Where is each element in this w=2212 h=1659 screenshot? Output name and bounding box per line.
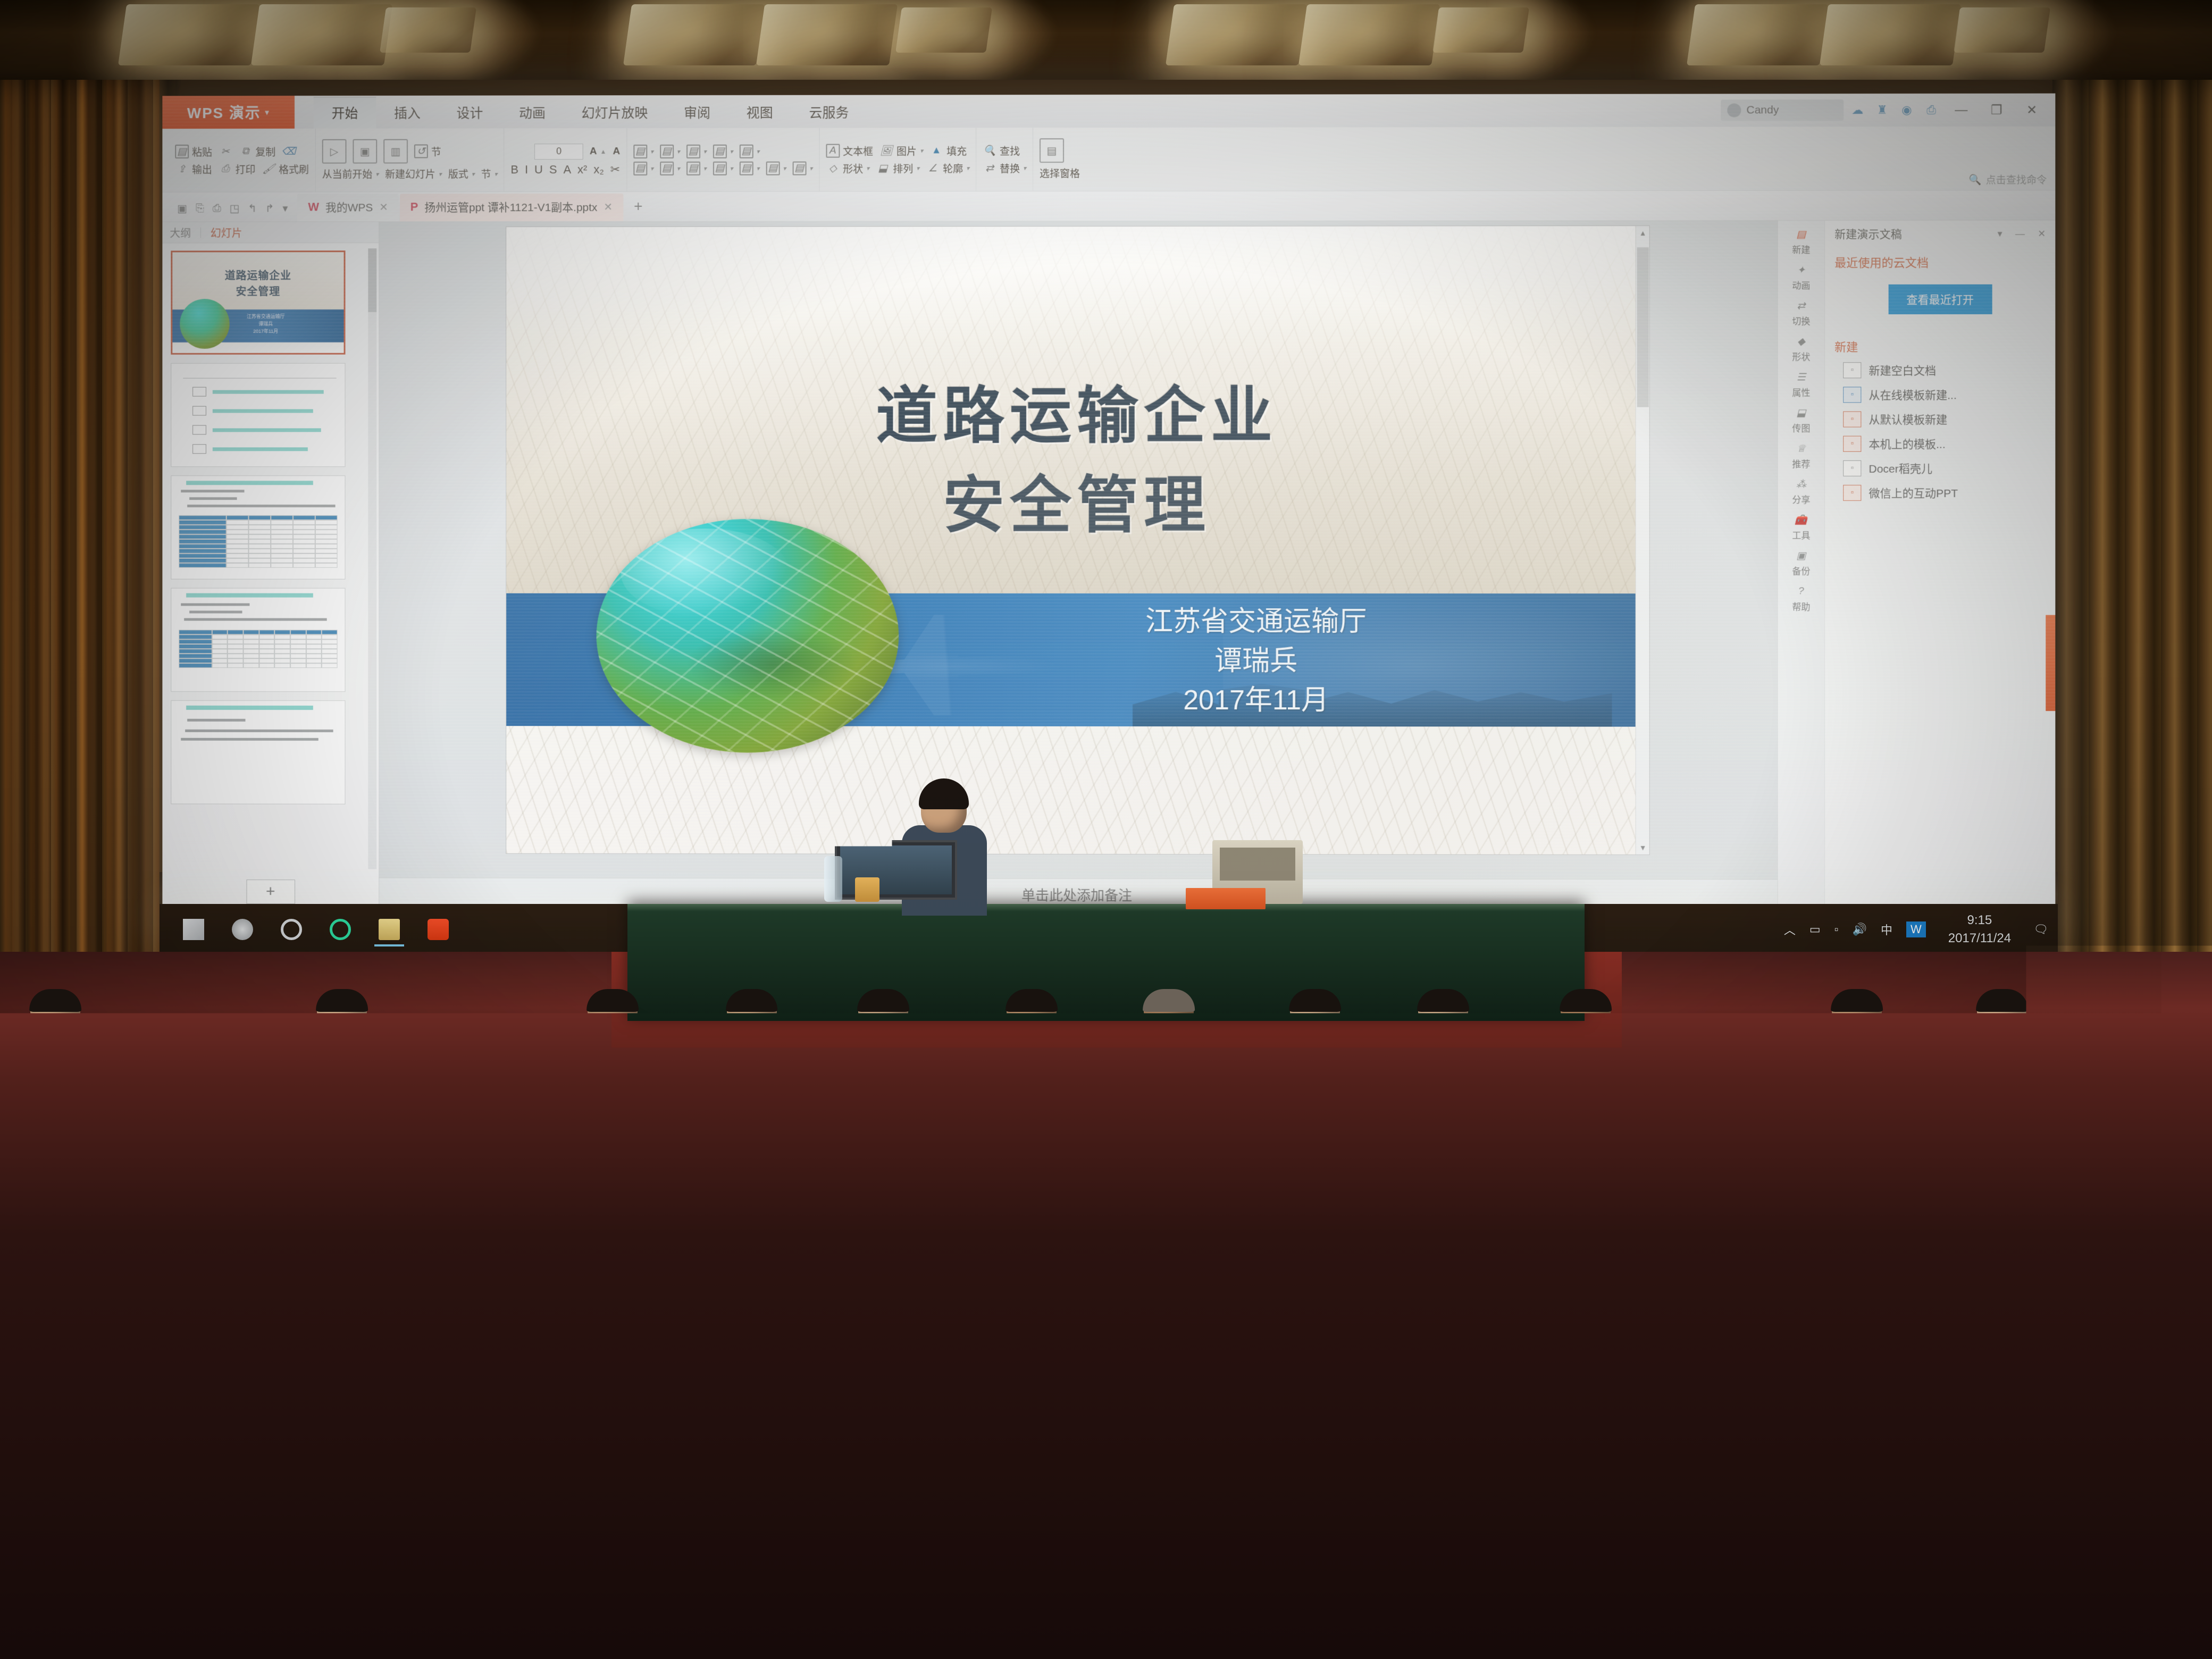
- minimize-button[interactable]: —: [1945, 94, 1977, 127]
- thumbnail-list[interactable]: 道路运输企业 安全管理 江苏省交通运输厅谭瑞兵2017年11月: [162, 243, 379, 874]
- task-pane-rail-分享[interactable]: ⁂分享: [1778, 474, 1824, 508]
- app-logo-badge[interactable]: WPS 演示 ▾: [162, 96, 295, 129]
- audience-person: [1871, 1256, 2032, 1381]
- thumb-table-row: [179, 549, 337, 554]
- audience-person: [2129, 1474, 2212, 1639]
- person-hair: [857, 989, 909, 1012]
- print-quick-icon[interactable]: ⎙: [213, 203, 221, 215]
- align-center-icon[interactable]: ▤▾: [660, 161, 680, 175]
- transition-icon: ⇄: [1793, 299, 1809, 313]
- person-hair: [1210, 1255, 1295, 1291]
- align-distribute-icon[interactable]: ▤▾: [740, 161, 760, 175]
- font-style-button-5[interactable]: x²: [577, 163, 587, 177]
- person-hair: [1975, 1099, 2040, 1127]
- blank-doc-icon: ▫: [1843, 362, 1861, 378]
- tools-icon: 🧰: [1793, 513, 1809, 527]
- person-hair: [1803, 1099, 1868, 1127]
- folder-icon[interactable]: [365, 910, 414, 949]
- recent-cloud-heading: 最近使用的云文档: [1825, 247, 2055, 270]
- close-tab-icon[interactable]: ✕: [379, 200, 388, 214]
- textbox-button[interactable]: A文本框: [826, 144, 873, 158]
- replace-label: 替换: [1000, 161, 1020, 175]
- undo-icon[interactable]: ↰: [248, 202, 257, 215]
- ribbon-tab-1[interactable]: 插入: [376, 98, 438, 129]
- slide-canvas-area: 道路运输企业 安全管理 江苏省交通运输厅 谭瑞兵 2017年11月: [379, 221, 1777, 911]
- task-pane-item-label: 从默认模板新建: [1869, 411, 1947, 427]
- chevron-down-icon[interactable]: ▾: [265, 108, 270, 117]
- print-button[interactable]: ⎙打印: [219, 162, 256, 176]
- new-slide-icon[interactable]: ▣: [353, 139, 377, 164]
- person-hair: [748, 1255, 833, 1291]
- cut-button[interactable]: ✂: [219, 145, 232, 158]
- thumb3-title: [186, 481, 313, 485]
- layout-button[interactable]: 版式▾: [448, 166, 475, 181]
- water-bottle: [824, 856, 842, 902]
- restore-button[interactable]: ❐: [1981, 94, 2013, 127]
- person-hair: [1289, 989, 1341, 1012]
- person-hair: [1006, 989, 1058, 1012]
- person-hair: [1123, 1038, 1183, 1063]
- current-slide[interactable]: 道路运输企业 安全管理 江苏省交通运输厅 谭瑞兵 2017年11月: [506, 226, 1649, 854]
- person-hair: [726, 989, 778, 1012]
- selection-pane-icon[interactable]: ▤: [1040, 138, 1064, 163]
- task-pane-item-0[interactable]: ▫新建空白文档: [1825, 358, 2055, 382]
- app-name: WPS 演示: [187, 102, 261, 123]
- person-hair: [2157, 1099, 2212, 1127]
- windows-explorer-icon[interactable]: [218, 910, 267, 949]
- globe-icon[interactable]: ◉: [1896, 99, 1917, 121]
- search-icon: 🔍: [1969, 173, 1982, 186]
- person-hair: [211, 1169, 288, 1200]
- line-spacing-icon[interactable]: ▤▾: [740, 144, 760, 158]
- person-hair: [1905, 1038, 1965, 1063]
- task-pane-item-3[interactable]: ▫本机上的模板...: [1825, 432, 2055, 456]
- thumb-table-row: [179, 630, 337, 634]
- browser-icon[interactable]: [267, 910, 316, 949]
- task-pane-rail: ▤新建✦动画⇄切换◆形状☰属性⬓传图♕推荐⁂分享🧰工具▣备份?帮助: [1778, 221, 1825, 911]
- ribbon-toolbar: ▤粘贴 ✂ ⧉复制 ⌫ ⇪输出 ⎙打印 🖌格式刷 ▷ ▣: [162, 127, 2055, 192]
- canvas-viewport: 道路运输企业 安全管理 江苏省交通运输厅 谭瑞兵 2017年11月: [379, 221, 1777, 879]
- person-hair: [0, 1038, 54, 1063]
- person-body: [634, 1537, 843, 1639]
- thumb1-author: 谭瑞兵: [247, 320, 285, 328]
- person-hair: [1100, 1099, 1165, 1127]
- outline-label: 轮廓: [943, 161, 963, 175]
- font-size-input[interactable]: 0: [534, 144, 583, 160]
- person-hair: [1550, 1354, 1647, 1395]
- ribbon-group-paragraph: ▤▾▤▾▤▾▤▾▤▾ ▤▾▤▾▤▾▤▾▤▾▤▾▤▾: [627, 128, 819, 191]
- selection-pane-button[interactable]: 选择窗格: [1040, 166, 1080, 180]
- picture-button[interactable]: 🖼图片▾: [879, 144, 923, 158]
- thumb-table-row: [179, 663, 337, 668]
- task-pane-rail-新建[interactable]: ▤新建: [1778, 224, 1824, 258]
- person-hair: [62, 1255, 147, 1291]
- font-style-button-0[interactable]: B: [510, 163, 518, 177]
- slide-org: 江苏省交通运输厅: [1145, 602, 1367, 641]
- person-hair: [53, 1099, 118, 1127]
- side-promo-tab[interactable]: [2046, 615, 2055, 711]
- person-body: [1871, 1303, 2032, 1381]
- ribbon-tab-3[interactable]: 动画: [501, 97, 564, 128]
- audience-person: [2089, 1256, 2212, 1381]
- outline-button[interactable]: ∠轮廓▾: [926, 161, 969, 175]
- audience-table: [12, 1472, 403, 1532]
- person-body: [1534, 1537, 1743, 1639]
- person-hair: [1449, 1255, 1534, 1291]
- rail-label: 帮助: [1792, 599, 1810, 613]
- person-hair: [1454, 1099, 1520, 1127]
- task-pane-rail-工具[interactable]: 🧰工具: [1778, 509, 1824, 544]
- align-justify-icon[interactable]: ▤▾: [713, 161, 733, 175]
- task-pane: ▤新建✦动画⇄切换◆形状☰属性⬓传图♕推荐⁂分享🧰工具▣备份?帮助 新建演示文稿…: [1778, 220, 2056, 911]
- search-placeholder: 点击查找命令: [1986, 172, 2047, 187]
- person-body: [772, 1073, 884, 1127]
- section-label: 节: [481, 166, 491, 181]
- default-template-icon: ▫: [1843, 412, 1861, 428]
- thumb4-title: [186, 593, 313, 598]
- thumbnail-slide-2[interactable]: [171, 363, 345, 467]
- redo-icon[interactable]: ↱: [265, 202, 274, 215]
- grow-font-button[interactable]: A▲: [590, 146, 607, 157]
- slide-thumbnail-panel: 大纲 幻灯片 道路运输企业 安全管理 江苏省交通运输厅谭瑞兵2017年11月: [162, 222, 379, 909]
- task-pane-minimize[interactable]: —: [2011, 228, 2029, 239]
- shapes-button[interactable]: ◇形状▾: [826, 161, 869, 175]
- person-hair: [799, 1038, 858, 1063]
- ribbon-group-clipboard: ▤粘贴 ✂ ⧉复制 ⌫ ⇪输出 ⎙打印 🖌格式刷: [169, 129, 316, 192]
- wps-presentation-icon[interactable]: [414, 910, 463, 949]
- person-hair: [1831, 989, 1883, 1012]
- ribbon-tab-6[interactable]: 视图: [728, 97, 791, 128]
- person-hair: [2081, 1169, 2159, 1200]
- thumb1-title-line1: 道路运输企业: [172, 267, 343, 282]
- task-pane-rail-传图[interactable]: ⬓传图: [1778, 403, 1824, 437]
- scroll-up-icon[interactable]: ▲: [1636, 226, 1649, 240]
- ribbon-tab-5[interactable]: 审阅: [666, 97, 728, 128]
- arrange-label: 排列: [893, 161, 913, 175]
- person-body: [2129, 1537, 2212, 1639]
- task-pane-item-5[interactable]: ▫微信上的互动PPT: [1825, 481, 2055, 505]
- person-hair: [1880, 1473, 1991, 1520]
- person-hair: [1976, 989, 2028, 1012]
- task-pane-close[interactable]: ✕: [2033, 228, 2050, 239]
- task-pane-rail-切换[interactable]: ⇄切换: [1778, 295, 1824, 330]
- rail-label: 分享: [1792, 492, 1810, 506]
- person-hair: [1628, 1099, 1694, 1127]
- projection-screen: WPS 演示 ▾ 开始插入设计动画幻灯片放映审阅视图云服务 Candy ☁ ♜ …: [162, 94, 2055, 936]
- task-pane-item-label: 从在线模板新建...: [1869, 387, 1956, 403]
- ribbon-tab-0[interactable]: 开始: [314, 97, 376, 129]
- font-style-button-7[interactable]: ✂: [610, 163, 620, 177]
- animation-icon: ✦: [1793, 263, 1809, 277]
- rail-label: 动画: [1792, 278, 1810, 291]
- task-pane-item-label: 微信上的互动PPT: [1869, 485, 1958, 501]
- document-tab-label: 我的WPS: [325, 199, 373, 215]
- title-bar: WPS 演示 ▾ 开始插入设计动画幻灯片放映审阅视图云服务 Candy ☁ ♜ …: [162, 94, 2055, 129]
- person-hair: [781, 1354, 878, 1395]
- properties-icon: ☰: [1793, 370, 1809, 384]
- thermos-flask: [690, 1432, 718, 1515]
- online-template-icon: ▫: [1843, 387, 1861, 403]
- shrink-font-button[interactable]: A: [613, 146, 620, 157]
- print-preview-icon[interactable]: ◳: [230, 202, 240, 215]
- thumb-table-row: [179, 649, 337, 653]
- print-label: 打印: [236, 162, 256, 176]
- ribbon-tab-7[interactable]: 云服务: [791, 97, 867, 128]
- thermos-flask: [165, 1153, 185, 1210]
- thermos-flask: [1011, 1229, 1033, 1292]
- slide-author: 谭瑞兵: [1145, 641, 1367, 681]
- tab-app-icon: W: [308, 200, 319, 214]
- task-pane-item-2[interactable]: ▫从默认模板新建: [1825, 407, 2055, 431]
- person-hair: [1280, 1099, 1346, 1127]
- person-hair: [1657, 1169, 1735, 1200]
- slide-title-line1[interactable]: 道路运输企业: [506, 366, 1649, 456]
- task-pane-item-1[interactable]: ▫从在线模板新建...: [1825, 382, 2055, 407]
- thermos-flask: [551, 1153, 571, 1210]
- command-search[interactable]: 🔍 点击查找命令: [1969, 172, 2047, 187]
- thumbnail-scrollbar[interactable]: [368, 248, 376, 869]
- new-tab-button[interactable]: +: [624, 194, 652, 221]
- document-tabs: W我的WPS✕P扬州运管ppt 谭补1121-V1副本.pptx✕: [297, 194, 624, 221]
- person-body: [1237, 1537, 1446, 1639]
- ime-icon[interactable]: 中: [1881, 921, 1892, 938]
- globe-interchange-image[interactable]: [597, 519, 899, 753]
- bullet-list-icon[interactable]: ▤▾: [633, 145, 653, 158]
- avatar: [1727, 103, 1741, 117]
- workspace: 大纲 幻灯片 道路运输企业 安全管理 江苏省交通运输厅谭瑞兵2017年11月: [162, 220, 2055, 911]
- ceiling-light: [1432, 7, 1529, 53]
- thumbnail-panel-tabs: 大纲 幻灯片: [162, 222, 379, 243]
- thumbnail-slide-5[interactable]: [171, 700, 345, 805]
- thumb-table-row: [179, 634, 337, 639]
- thumb-table-row: [179, 644, 337, 649]
- reset-button[interactable]: ↺节: [414, 144, 441, 158]
- task-pane-caret-icon[interactable]: ▾: [1993, 228, 2007, 239]
- align-right-icon[interactable]: ▤▾: [686, 161, 707, 175]
- orange-placard: [1186, 888, 1266, 909]
- person-hair: [504, 1354, 601, 1395]
- slide-date: 2017年11月: [1145, 681, 1367, 720]
- save-as-icon[interactable]: ⎘: [196, 203, 204, 215]
- person-hair: [311, 1038, 370, 1063]
- taskbar-clock[interactable]: 9:15 2017/11/24: [1940, 911, 2020, 948]
- section-label-top: 节: [431, 144, 441, 158]
- thermos-flask: [1187, 1323, 1212, 1396]
- thermos-flask: [690, 1323, 715, 1396]
- task-pane-rail-帮助[interactable]: ?帮助: [1778, 581, 1824, 615]
- recommend-icon: ♕: [1793, 442, 1809, 456]
- replace-button[interactable]: ⇄替换▾: [983, 161, 1026, 175]
- volume-icon[interactable]: 🔊: [1853, 923, 1867, 936]
- account-name: Candy: [1746, 104, 1779, 116]
- audience-person: [634, 1474, 843, 1639]
- task-pane-rail-属性[interactable]: ☰属性: [1778, 366, 1824, 401]
- tab-slides[interactable]: 幻灯片: [211, 225, 242, 240]
- ceiling-light: [380, 7, 476, 53]
- clock-date: 2017/11/24: [1948, 929, 2011, 948]
- font-style-button-1[interactable]: I: [525, 163, 528, 177]
- person-hair: [1043, 1169, 1121, 1200]
- person-hair: [2075, 1038, 2134, 1063]
- notes-placeholder: 单击此处添加备注: [379, 884, 1777, 905]
- presenter-laptop: [835, 840, 957, 915]
- person-hair: [1285, 1038, 1345, 1063]
- section-button[interactable]: 节▾: [481, 166, 498, 181]
- thumbnail-slide-3[interactable]: [171, 475, 345, 580]
- pin-window-icon[interactable]: ⎙: [1921, 99, 1942, 121]
- canvas-scrollbar[interactable]: ▲ ▼: [1636, 226, 1649, 854]
- wechat-ppt-icon: ▫: [1843, 485, 1861, 501]
- textbox-label: 文本框: [843, 144, 873, 158]
- audience-person: [772, 1040, 884, 1127]
- task-pane-rail-备份[interactable]: ▣备份: [1778, 545, 1824, 580]
- backup-icon: ▣: [1793, 549, 1809, 563]
- cloud-icon[interactable]: ☁: [1847, 99, 1868, 121]
- font-style-button-6[interactable]: x₂: [593, 163, 604, 177]
- task-pane-rail-推荐[interactable]: ♕推荐: [1778, 438, 1824, 473]
- task-pane-item-label: 本机上的模板...: [1869, 436, 1945, 452]
- align-left-icon[interactable]: ▤▾: [633, 161, 653, 175]
- person-body: [1831, 1537, 2040, 1639]
- outdent-icon[interactable]: ▤▾: [686, 144, 707, 158]
- share-icon: ⁂: [1793, 477, 1809, 491]
- font-style-button-4[interactable]: A: [563, 163, 571, 177]
- shirt-icon[interactable]: ♜: [1871, 99, 1892, 121]
- view-recent-button[interactable]: 查看最近打开: [1888, 284, 1992, 314]
- play-from-current-icon[interactable]: ▷: [322, 139, 347, 164]
- close-button[interactable]: ✕: [2016, 94, 2048, 127]
- task-pane-rail-形状[interactable]: ◆形状: [1778, 331, 1824, 365]
- layout-icon[interactable]: ▥: [383, 139, 408, 164]
- thumb2-row-2: [192, 406, 313, 416]
- task-pane-rail-动画[interactable]: ✦动画: [1778, 259, 1824, 294]
- audience-chair: [41, 1560, 274, 1659]
- ribbon-tab-2[interactable]: 设计: [439, 98, 501, 129]
- rail-label: 切换: [1792, 314, 1810, 327]
- format-brush-button[interactable]: ⌫: [282, 145, 296, 158]
- columns-icon[interactable]: ▤▾: [792, 161, 812, 175]
- account-chip[interactable]: Candy: [1721, 99, 1844, 121]
- thumb-table-row: [179, 525, 337, 530]
- thermos-flask: [154, 1229, 176, 1292]
- rail-label: 备份: [1792, 564, 1810, 577]
- person-body: [2089, 1303, 2212, 1381]
- paste-button[interactable]: ▤粘贴: [175, 144, 212, 158]
- audience-person: [1534, 1474, 1743, 1639]
- shape-icon: ◆: [1793, 334, 1809, 348]
- rail-label: 推荐: [1792, 457, 1810, 470]
- export-button[interactable]: ⇪输出: [175, 162, 212, 176]
- close-tab-icon[interactable]: ✕: [604, 200, 613, 213]
- person-hair: [965, 1038, 1025, 1063]
- start-icon[interactable]: [169, 910, 218, 949]
- battery-icon[interactable]: ▫: [1834, 923, 1839, 936]
- conference-room-photo: WPS 演示 ▾ 开始插入设计动画幻灯片放映审阅视图云服务 Candy ☁ ♜ …: [0, 0, 2212, 1659]
- person-hair: [294, 1255, 379, 1291]
- ceiling: [0, 0, 2212, 93]
- internet-explorer-icon[interactable]: [316, 910, 365, 949]
- thumb2-row-3: [192, 425, 321, 434]
- selection-pane-label: 选择窗格: [1040, 166, 1080, 180]
- copy-button[interactable]: ⧉复制: [239, 144, 276, 158]
- person-hair: [1244, 1169, 1321, 1200]
- copy-label: 复制: [255, 144, 275, 158]
- fill-button[interactable]: ▲填充: [929, 144, 967, 158]
- tab-outline[interactable]: 大纲: [170, 225, 191, 240]
- thumb-table-row: [179, 554, 337, 558]
- numbered-list-icon[interactable]: ▤▾: [660, 144, 680, 158]
- notification-icon[interactable]: 🗨: [2033, 923, 2048, 936]
- brush-button[interactable]: 🖌格式刷: [262, 162, 309, 176]
- font-style-button-3[interactable]: S: [549, 163, 557, 177]
- font-style-button-2[interactable]: U: [534, 163, 543, 177]
- person-hair: [1143, 989, 1195, 1012]
- quick-access-toolbar: ▣ ⎘ ⎙ ◳ ↰ ↱ ▾: [167, 202, 297, 222]
- thumb-table-row: [179, 534, 337, 539]
- person-hair: [29, 989, 81, 1012]
- save-icon[interactable]: ▣: [177, 202, 187, 215]
- person-hair: [637, 1038, 697, 1063]
- person-hair: [1417, 989, 1469, 1012]
- network-icon[interactable]: ▭: [1809, 923, 1821, 936]
- thumb1-date: 2017年11月: [247, 328, 285, 335]
- find-button[interactable]: 🔍查找: [983, 144, 1020, 158]
- document-tab-0[interactable]: W我的WPS✕: [297, 194, 398, 221]
- thermos-flask: [1247, 1432, 1276, 1515]
- fill-label: 填充: [946, 144, 967, 158]
- layout-label: 版式: [448, 166, 468, 181]
- show-hidden-icons[interactable]: ︿: [1784, 921, 1796, 938]
- ribbon-group-editing: 🔍查找 ⇄替换▾: [976, 128, 1033, 191]
- ceiling-light: [756, 4, 898, 65]
- person-hair: [484, 1038, 544, 1063]
- person-hair: [1290, 1354, 1387, 1395]
- play-from-current-label: 从当前开始: [322, 167, 373, 181]
- local-template-icon: ▫: [1843, 436, 1861, 452]
- rail-label: 属性: [1792, 385, 1810, 398]
- task-pane-item-4[interactable]: ▫Docer稻壳儿: [1825, 456, 2055, 481]
- title-bar-right: Candy ☁ ♜ ◉ ⎙ — ❐ ✕: [1721, 94, 2055, 127]
- help-icon: ?: [1793, 584, 1809, 598]
- thumbnail-slide-4[interactable]: [171, 588, 345, 692]
- export-label: 输出: [192, 162, 212, 176]
- text-direction-icon[interactable]: ▤▾: [766, 161, 786, 175]
- person-hair: [1870, 1169, 1948, 1200]
- clock-time: 9:15: [1948, 911, 2011, 929]
- new-slide-button[interactable]: 新建幻灯片▾: [385, 166, 442, 181]
- ceiling-light: [1954, 7, 2050, 53]
- thumbnail-slide-1[interactable]: 道路运输企业 安全管理 江苏省交通运输厅谭瑞兵2017年11月: [171, 250, 345, 355]
- document-tab-1[interactable]: P扬州运管ppt 谭补1121-V1副本.pptx✕: [400, 194, 623, 221]
- play-from-current-button[interactable]: 从当前开始▾: [322, 167, 379, 181]
- task-pane-item-label: 新建空白文档: [1869, 362, 1936, 378]
- add-slide-button[interactable]: +: [246, 879, 295, 904]
- person-hair: [5, 1169, 82, 1200]
- qat-more-icon[interactable]: ▾: [282, 202, 288, 215]
- shapes-label: 形状: [843, 161, 863, 175]
- ribbon-tab-list: 开始插入设计动画幻灯片放映审阅视图云服务: [295, 94, 1721, 128]
- person-hair: [170, 1038, 230, 1063]
- slide-credits[interactable]: 江苏省交通运输厅 谭瑞兵 2017年11月: [1145, 602, 1367, 720]
- audience-person: [931, 1474, 1139, 1639]
- thumb-table-row: [179, 530, 337, 534]
- scroll-down-icon[interactable]: ▼: [1636, 841, 1649, 854]
- indent-icon[interactable]: ▤▾: [713, 144, 733, 158]
- ribbon-tab-4[interactable]: 幻灯片放映: [564, 97, 666, 128]
- brush-label: 格式刷: [279, 162, 309, 176]
- arrange-button[interactable]: ⬓排列▾: [876, 161, 919, 175]
- wps-tray-icon[interactable]: W: [1906, 921, 1926, 937]
